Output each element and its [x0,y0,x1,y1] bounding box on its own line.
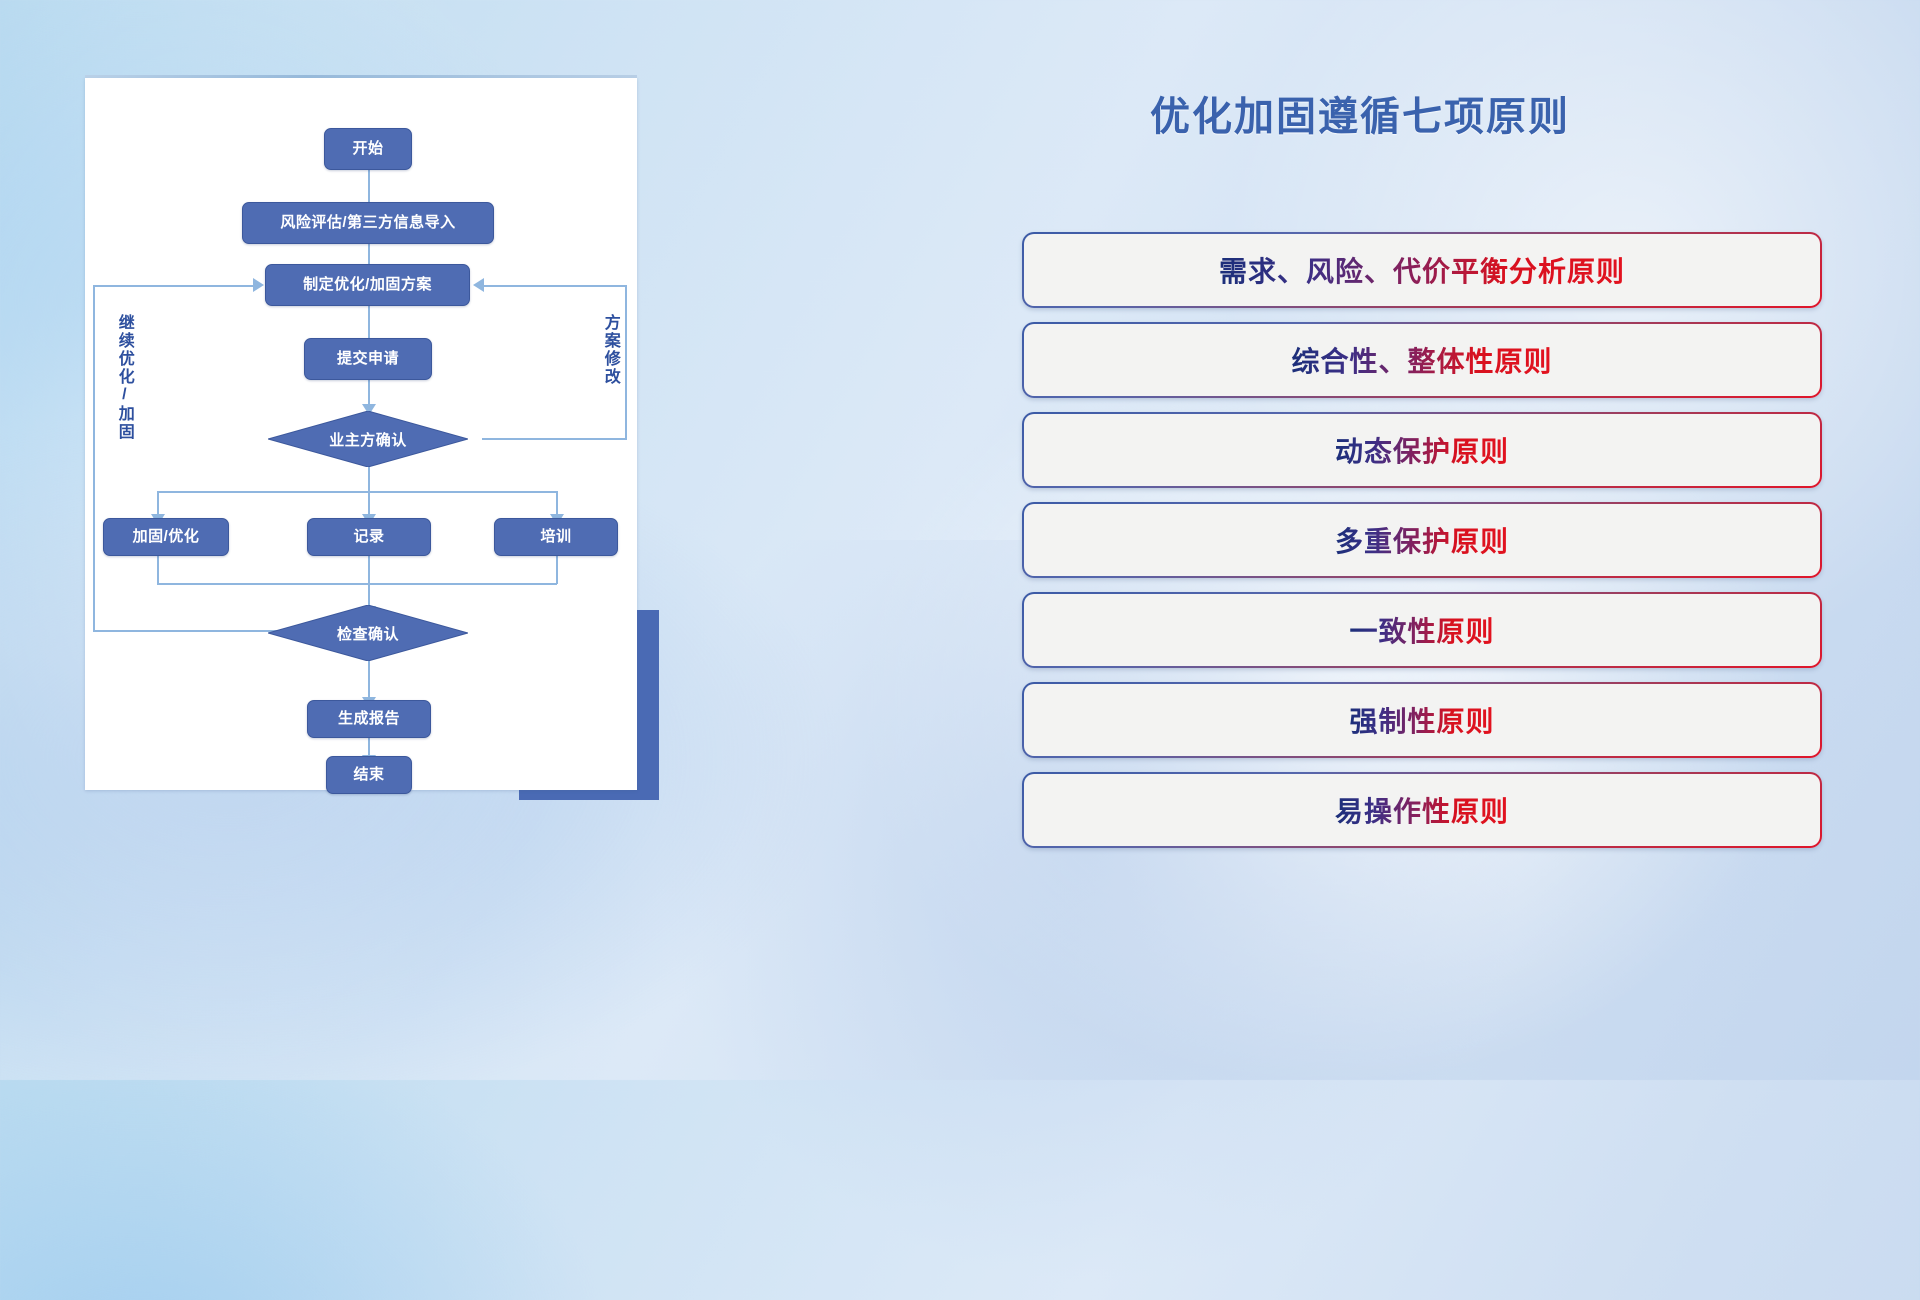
principle-label: 多重保护原则 [1335,520,1509,560]
flow-node-record-label: 记录 [353,529,384,546]
edge-record-check [368,554,370,612]
flow-node-reinforce[interactable]: 加固/优化 [103,518,229,556]
principle-item-inner: 一致性原则 [1024,594,1820,666]
flow-node-check-confirm-label: 检查确认 [268,605,468,661]
flow-node-training-label: 培训 [540,529,571,546]
principle-item-inner: 需求、风险、代价平衡分析原则 [1024,234,1820,306]
edge-owner-to-plan-arrow [473,278,484,292]
flow-node-start-label: 开始 [352,141,383,158]
principle-item-inner: 强制性原则 [1024,684,1820,756]
flow-node-owner-confirm[interactable]: 业主方确认 [268,411,468,467]
principle-item-inner: 综合性、整体性原则 [1024,324,1820,396]
principle-label: 综合性、整体性原则 [1291,340,1552,380]
edge-label-plan-revision: 方案修改 [601,314,618,386]
flow-node-reinforce-label: 加固/优化 [133,529,200,546]
edge-owner-bus-h [157,491,557,493]
principle-item[interactable]: 综合性、整体性原则 [1022,322,1822,398]
flow-node-report-label: 生成报告 [338,711,400,728]
flow-node-check-confirm[interactable]: 检查确认 [268,605,468,661]
flow-node-training[interactable]: 培训 [494,518,618,556]
edge-train-bus [556,554,558,584]
edge-fanin-bus-h [157,583,557,585]
flow-node-submit-label: 提交申请 [337,351,399,368]
principles-list: 需求、风险、代价平衡分析原则 综合性、整体性原则 动态保护原则 多重保护原则 一… [1022,232,1822,862]
principle-item-inner: 动态保护原则 [1024,414,1820,486]
page-title: 优化加固遵循七项原则 [1150,84,1710,142]
principle-label: 一致性原则 [1349,610,1494,650]
flow-node-owner-confirm-label: 业主方确认 [268,411,468,467]
flow-node-record[interactable]: 记录 [307,518,431,556]
edge-owner-to-plan-h-bottom [482,438,626,440]
principle-item[interactable]: 易操作性原则 [1022,772,1822,848]
principle-item-inner: 易操作性原则 [1024,774,1820,846]
edge-label-continue-optimize: 继续优化/加固 [115,314,132,441]
flow-node-plan-label: 制定优化/加固方案 [303,277,432,294]
flow-node-start[interactable]: 开始 [324,128,412,170]
principle-label: 易操作性原则 [1335,790,1509,830]
edge-owner-bus-v [368,466,370,492]
edge-check-to-plan-v [93,285,95,631]
flow-node-end-label: 结束 [353,767,384,784]
principle-item[interactable]: 强制性原则 [1022,682,1822,758]
flow-node-plan[interactable]: 制定优化/加固方案 [265,264,470,306]
flowchart-card: 开始 风险评估/第三方信息导入 制定优化/加固方案 提交申请 业主方确认 加固/… [85,78,637,790]
flow-node-report[interactable]: 生成报告 [307,700,431,738]
principle-label: 需求、风险、代价平衡分析原则 [1219,250,1625,290]
edge-owner-to-plan-v [625,285,627,440]
flow-node-submit[interactable]: 提交申请 [304,338,432,380]
flow-node-end[interactable]: 结束 [326,756,412,794]
flow-node-risk-assessment[interactable]: 风险评估/第三方信息导入 [242,202,494,244]
principle-label: 强制性原则 [1349,700,1494,740]
principle-item[interactable]: 动态保护原则 [1022,412,1822,488]
flow-node-risk-assessment-label: 风险评估/第三方信息导入 [280,215,455,232]
edge-reinforce-bus [157,554,159,584]
edge-check-to-plan-arrow [253,278,264,292]
principle-item[interactable]: 一致性原则 [1022,592,1822,668]
edge-check-to-plan-h-top [93,285,256,287]
principle-item[interactable]: 需求、风险、代价平衡分析原则 [1022,232,1822,308]
edge-owner-to-plan-h-top [483,285,626,287]
flowchart: 开始 风险评估/第三方信息导入 制定优化/加固方案 提交申请 业主方确认 加固/… [85,78,637,790]
principle-label: 动态保护原则 [1335,430,1509,470]
principle-item-inner: 多重保护原则 [1024,504,1820,576]
principle-item[interactable]: 多重保护原则 [1022,502,1822,578]
